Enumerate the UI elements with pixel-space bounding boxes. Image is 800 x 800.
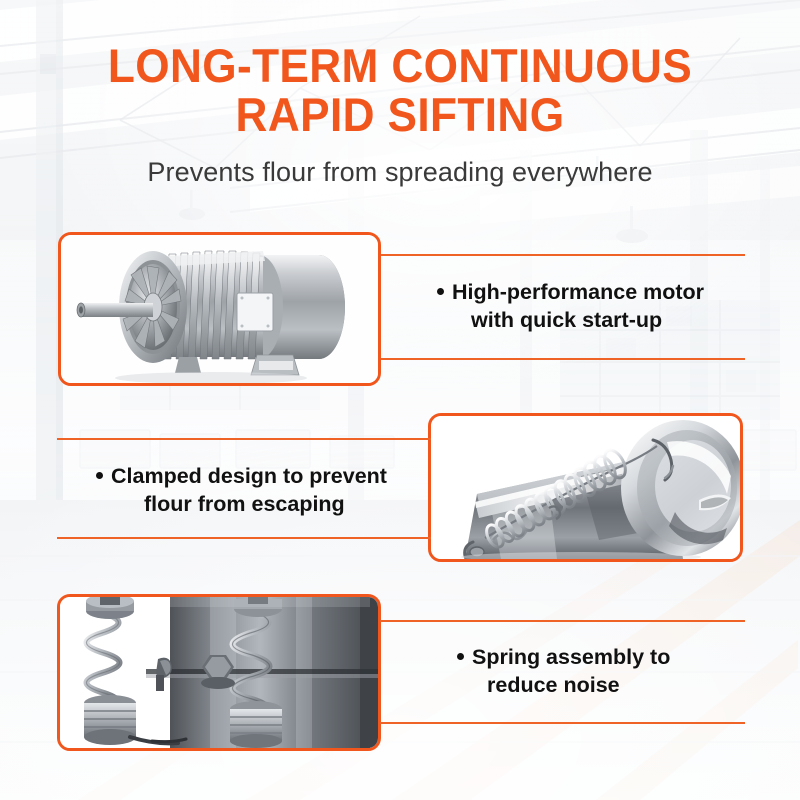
electric-motor-illustration (61, 235, 378, 383)
connector-line-spring-bottom (380, 722, 745, 724)
spring-assembly-photo (60, 597, 378, 748)
connector-line-motor-bottom (381, 358, 745, 360)
connector-line-motor-top (381, 254, 745, 256)
bullet-icon (437, 288, 444, 295)
feature-caption-spring: Spring assembly to reduce noise (457, 643, 670, 700)
connector-line-clamp-bottom (57, 537, 431, 539)
clamp-spring-illustration (431, 416, 740, 559)
caption-line-2-clamp: flour from escaping (96, 490, 387, 518)
headline: LONG-TERM CONTINUOUS RAPID SIFTING (0, 42, 800, 140)
headline-line-1: LONG-TERM CONTINUOUS (24, 42, 776, 91)
caption-line-2-motor: with quick start-up (437, 306, 704, 334)
caption-line-1-clamp: Clamped design to prevent (96, 462, 387, 490)
feature-photo-panel-motor (58, 232, 381, 386)
feature-caption-clamp: Clamped design to prevent flour from esc… (96, 462, 387, 519)
caption-line-1-spring: Spring assembly to (457, 643, 670, 671)
bullet-icon (96, 472, 103, 479)
connector-line-spring-top (380, 620, 745, 622)
bullet-icon (457, 653, 464, 660)
feature-photo-panel-spring (57, 594, 381, 751)
spring-assembly-illustration (60, 597, 378, 748)
electric-motor-photo (61, 235, 378, 383)
caption-line-2-spring: reduce noise (457, 671, 670, 699)
caption-line-1-motor: High-performance motor (437, 278, 704, 306)
connector-line-clamp-top (57, 438, 431, 440)
subtitle: Prevents flour from spreading everywhere (0, 157, 800, 188)
feature-caption-motor: High-performance motor with quick start-… (437, 278, 704, 335)
feature-photo-panel-clamp (428, 413, 743, 562)
headline-line-2: RAPID SIFTING (24, 91, 776, 140)
clamp-spring-photo (431, 416, 740, 559)
product-feature-infographic: LONG-TERM CONTINUOUS RAPID SIFTING Preve… (0, 0, 800, 800)
